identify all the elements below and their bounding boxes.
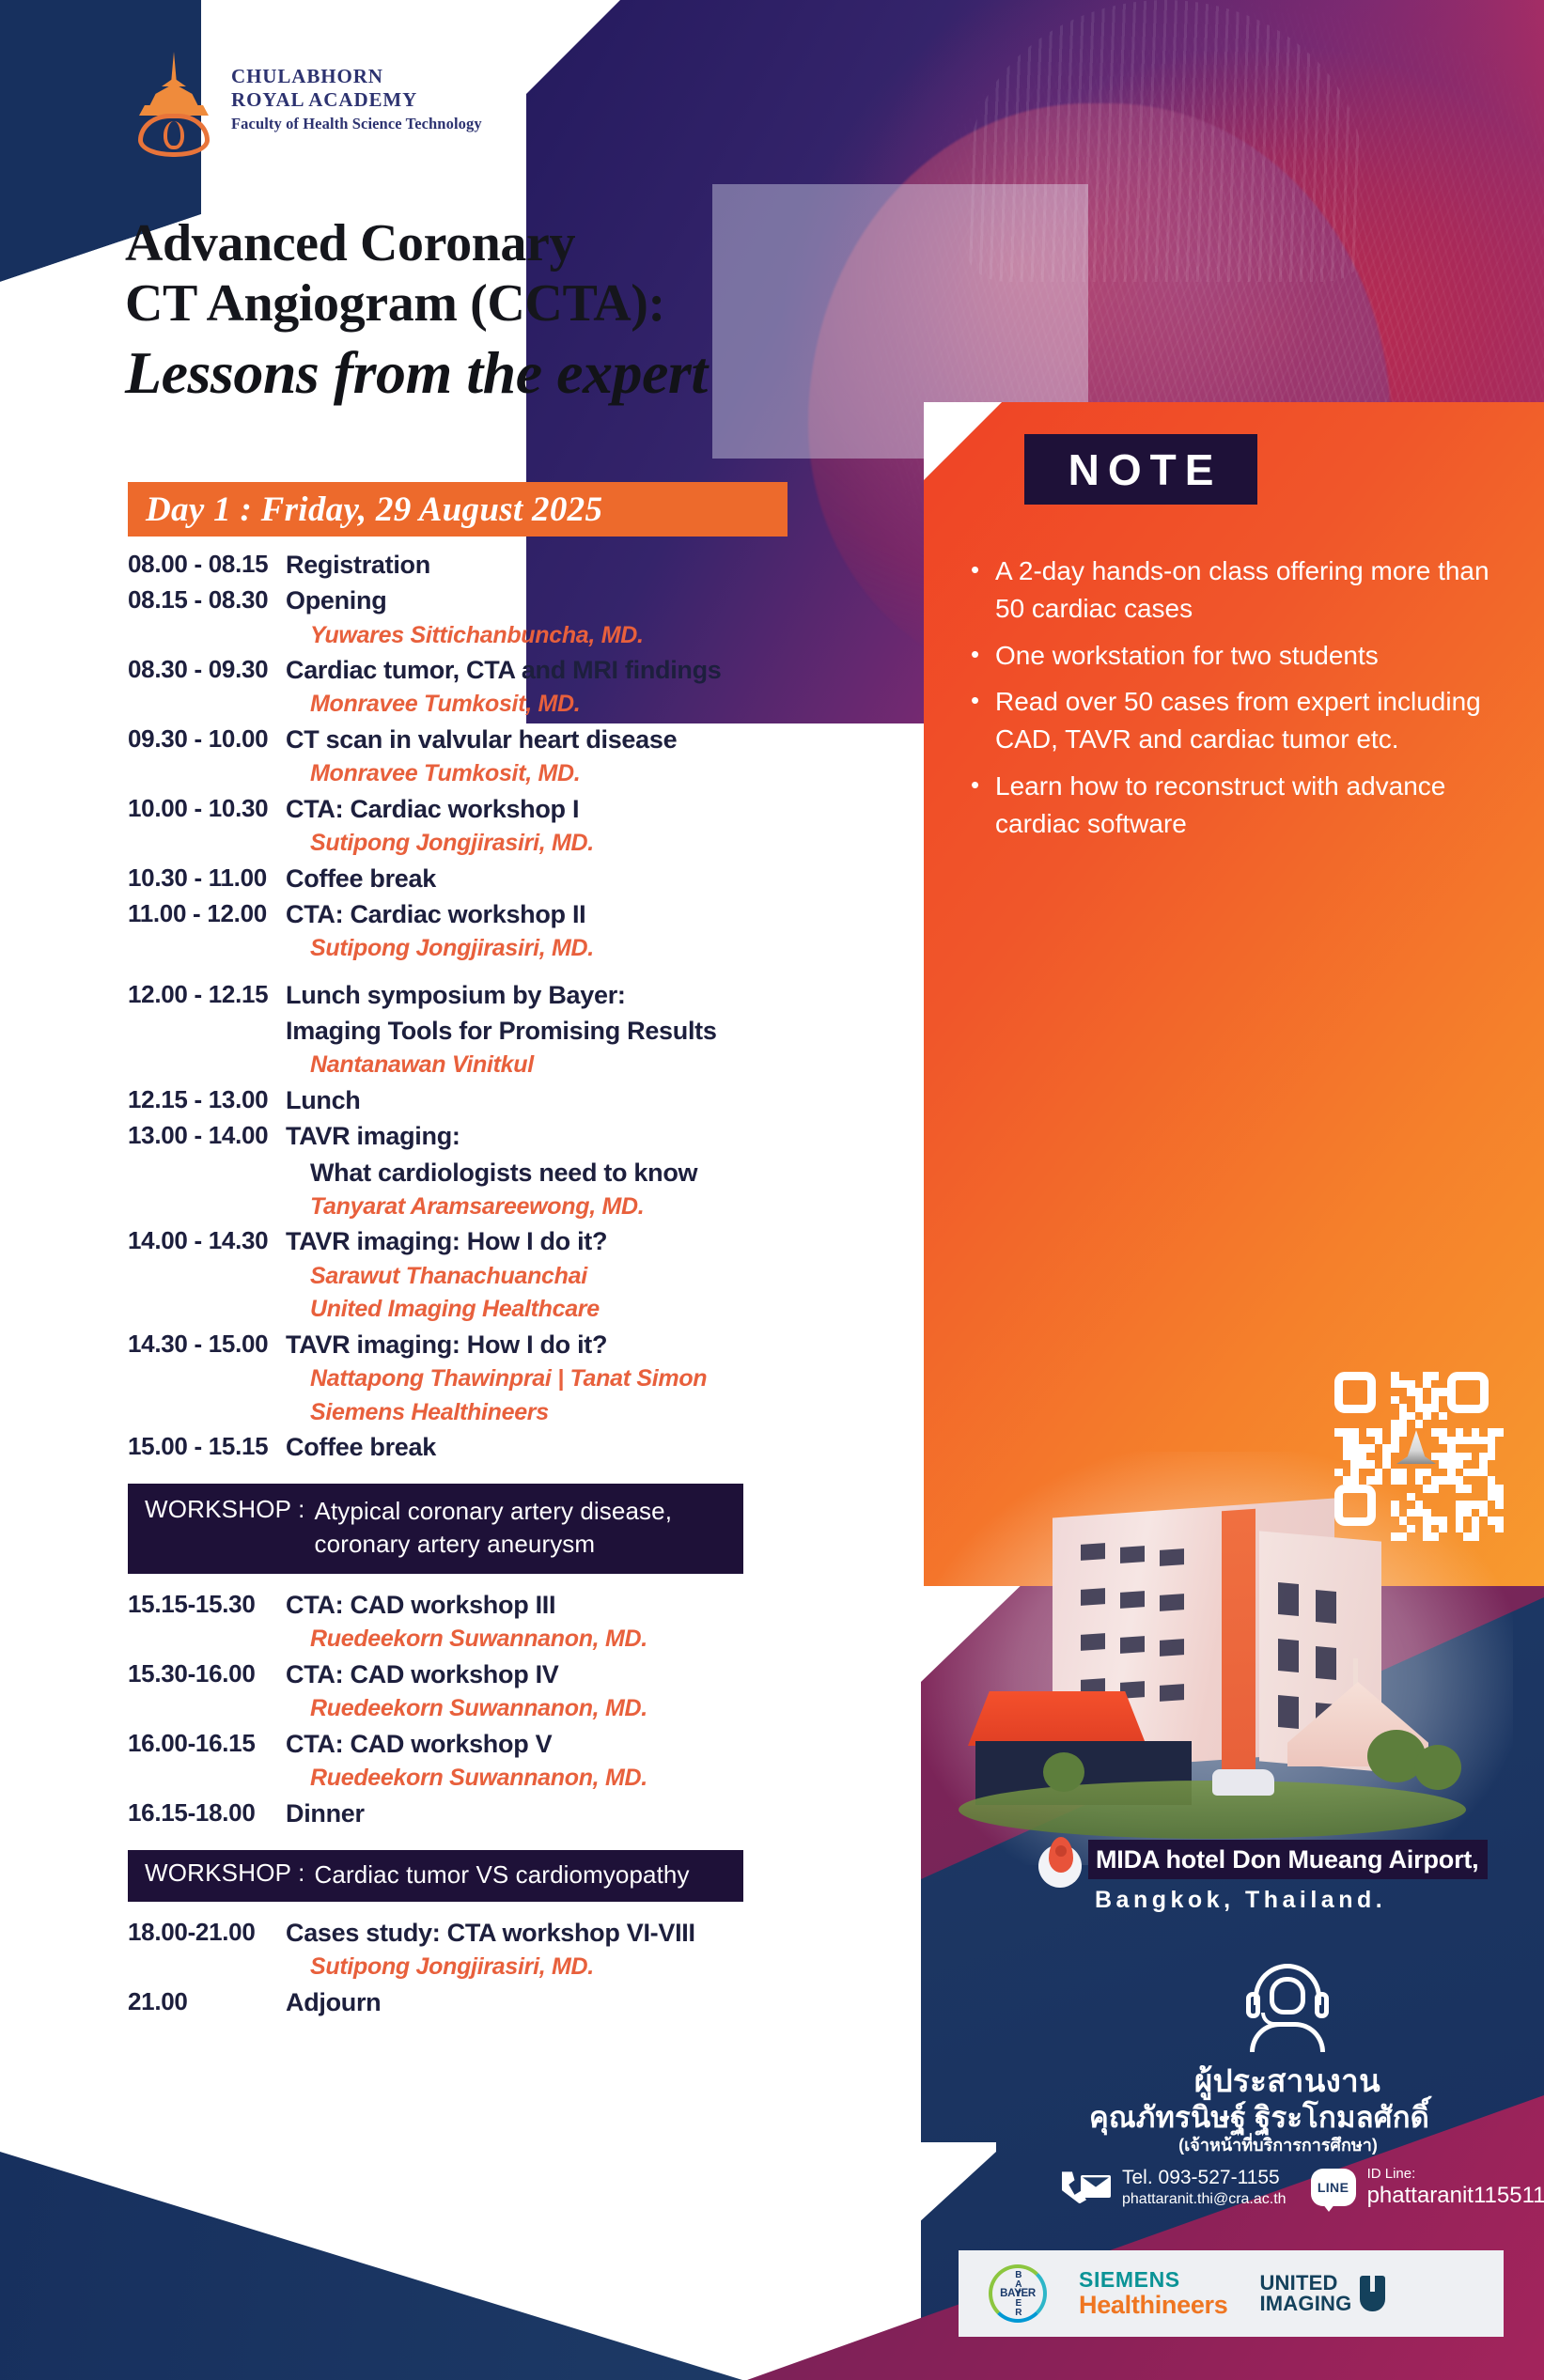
schedule-time: 14.00 - 14.30	[128, 1223, 286, 1258]
schedule-row: 15.30-16.00CTA: CAD workshop IVRuedeekor…	[128, 1657, 917, 1726]
logo-text: CHULABHORN ROYAL ACADEMY Faculty of Heal…	[231, 52, 482, 133]
schedule-topic: Coffee break	[286, 1429, 917, 1465]
bullet-icon: •	[971, 768, 995, 844]
schedule-speaker: Sarawut Thanachuanchai	[286, 1260, 917, 1294]
qr-module	[1391, 1420, 1399, 1428]
schedule-topic: Opening	[286, 583, 917, 618]
schedule-speaker: Tanyarat Aramsareewong, MD.	[286, 1190, 917, 1224]
united-imaging-logo: UNITED IMAGING	[1259, 2273, 1385, 2315]
qr-module	[1407, 1388, 1415, 1396]
line-app-icon: LINE	[1311, 2169, 1356, 2206]
imaging-wordmark: IMAGING	[1259, 2294, 1351, 2314]
schedule-body: Cases study: CTA workshop VI-VIIISutipon…	[286, 1915, 917, 1984]
bullet-icon: •	[971, 683, 995, 759]
qr-module	[1399, 1404, 1408, 1412]
qr-module	[1431, 1428, 1440, 1437]
schedule-body: TAVR imaging: How I do it?Sarawut Thanac…	[286, 1223, 917, 1326]
qr-module	[1415, 1396, 1424, 1405]
page-title: Advanced Coronary CT Angiogram (CCTA): L…	[125, 214, 1084, 408]
qr-module	[1423, 1372, 1431, 1380]
qr-module	[1334, 1428, 1343, 1437]
qr-module	[1423, 1380, 1431, 1389]
healthineers-wordmark: Healthineers	[1079, 2292, 1227, 2318]
schedule-time: 10.30 - 11.00	[128, 861, 286, 895]
schedule-body: TAVR imaging:What cardiologists need to …	[286, 1118, 917, 1223]
qr-module	[1407, 1380, 1415, 1389]
note-bullet-list: •A 2-day hands-on class offering more th…	[971, 552, 1525, 851]
schedule-row: 16.15-18.00Dinner	[128, 1796, 917, 1831]
schedule-body: CTA: Cardiac workshop IISutipong Jongjir…	[286, 896, 917, 966]
qr-module	[1431, 1404, 1440, 1412]
schedule-time: 12.15 - 13.00	[128, 1082, 286, 1117]
schedule-row: 14.30 - 15.00TAVR imaging: How I do it?N…	[128, 1327, 917, 1429]
qr-finder-pattern	[1447, 1372, 1489, 1413]
schedule-topic: CT scan in valvular heart disease	[286, 722, 917, 757]
schedule-topic: TAVR imaging: How I do it?	[286, 1223, 917, 1259]
schedule-row: 08.00 - 08.15Registration	[128, 547, 917, 583]
qr-module	[1423, 1412, 1431, 1421]
schedule-topic: CTA: CAD workshop IV	[286, 1657, 917, 1692]
schedule-time: 13.00 - 14.00	[128, 1118, 286, 1153]
schedule-speaker: Ruedeekorn Suwannanon, MD.	[286, 1692, 917, 1726]
note-item-text: Learn how to reconstruct with advance ca…	[995, 768, 1525, 844]
day-banner-text: Day 1 : Friday, 29 August 2025	[146, 490, 602, 530]
schedule-speaker: Ruedeekorn Suwannanon, MD.	[286, 1623, 917, 1657]
schedule-body: CTA: CAD workshop IIIRuedeekorn Suwannan…	[286, 1587, 917, 1657]
schedule-topic: Adjourn	[286, 1984, 917, 2020]
schedule-topic: CTA: CAD workshop III	[286, 1587, 917, 1623]
workshop-1-line-1: Atypical coronary artery disease,	[315, 1497, 672, 1525]
qr-module	[1439, 1412, 1447, 1421]
schedule-topic: TAVR imaging: How I do it?	[286, 1327, 917, 1362]
schedule-body: TAVR imaging: How I do it?Nattapong Thaw…	[286, 1327, 917, 1429]
qr-module	[1375, 1428, 1383, 1437]
schedule-time: 08.00 - 08.15	[128, 547, 286, 582]
qr-module	[1415, 1388, 1424, 1396]
schedule-row: 12.15 - 13.00Lunch	[128, 1082, 917, 1118]
schedule-row: 14.00 - 14.30TAVR imaging: How I do it?S…	[128, 1223, 917, 1326]
qr-module	[1375, 1437, 1383, 1445]
siemens-healthineers-logo: SIEMENS Healthineers	[1079, 2269, 1227, 2318]
conference-poster: CHULABHORN ROYAL ACADEMY Faculty of Heal…	[0, 0, 1544, 2380]
note-item: •A 2-day hands-on class offering more th…	[971, 552, 1525, 629]
schedule-body: Lunch symposium by Bayer:Imaging Tools f…	[286, 977, 917, 1082]
schedule-time: 21.00	[128, 1984, 286, 2019]
schedule-row: 10.00 - 10.30CTA: Cardiac workshop ISuti…	[128, 791, 917, 861]
schedule-row: 13.00 - 14.00TAVR imaging:What cardiolog…	[128, 1118, 917, 1223]
chulabhorn-crown-heart-icon	[130, 52, 218, 157]
schedule-speaker: Yuwares Sittichanbuncha, MD.	[286, 619, 917, 653]
schedule-row: 08.15 - 08.30OpeningYuwares Sittichanbun…	[128, 583, 917, 652]
schedule-list: 08.00 - 08.15Registration08.15 - 08.30Op…	[128, 547, 917, 2020]
schedule-section-afternoon: 15.15-15.30CTA: CAD workshop IIIRuedeeko…	[128, 1587, 917, 1831]
schedule-body: CTA: Cardiac workshop ISutipong Jongjira…	[286, 791, 917, 861]
workshop-2-title: Cardiac tumor VS cardiomyopathy	[305, 1859, 690, 1891]
note-item: •Learn how to reconstruct with advance c…	[971, 768, 1525, 844]
workshop-banner-1: WORKSHOP : Atypical coronary artery dise…	[128, 1484, 743, 1574]
schedule-speaker: Siemens Healthineers	[286, 1396, 917, 1430]
schedule-time: 12.00 - 12.15	[128, 977, 286, 1012]
org-faculty: Faculty of Health Science Technology	[231, 115, 482, 133]
note-item: •Read over 50 cases from expert includin…	[971, 683, 1525, 759]
qr-module	[1439, 1428, 1447, 1437]
qr-module	[1439, 1388, 1447, 1396]
schedule-row: 08.30 - 09.30Cardiac tumor, CTA and MRI …	[128, 652, 917, 722]
united-imaging-mark-icon	[1360, 2276, 1385, 2311]
schedule-topic-cont: Imaging Tools for Promising Results	[286, 1013, 917, 1049]
qr-finder-pattern	[1334, 1372, 1376, 1413]
schedule-speaker: Nantanawan Vinitkul	[286, 1049, 917, 1082]
qr-module	[1343, 1428, 1351, 1437]
location-name: MIDA hotel Don Mueang Airport,	[1088, 1840, 1488, 1879]
schedule-row: 15.15-15.30CTA: CAD workshop IIIRuedeeko…	[128, 1587, 917, 1657]
schedule-body: CT scan in valvular heart diseaseMonrave…	[286, 722, 917, 791]
schedule-topic: Registration	[286, 547, 917, 583]
schedule-time: 16.00-16.15	[128, 1726, 286, 1761]
schedule-topic: CTA: CAD workshop V	[286, 1726, 917, 1762]
schedule-speaker: Sutipong Jongjirasiri, MD.	[286, 1951, 917, 1984]
schedule-time: 15.00 - 15.15	[128, 1429, 286, 1464]
qr-module	[1391, 1372, 1399, 1380]
schedule-body: Registration	[286, 547, 917, 583]
qr-module	[1350, 1428, 1359, 1437]
contact-email[interactable]: phattaranit.thi@cra.ac.th	[1122, 2189, 1287, 2210]
siemens-wordmark: SIEMENS	[1079, 2269, 1227, 2292]
note-item: •One workstation for two students	[971, 637, 1525, 675]
schedule-topic: TAVR imaging:	[286, 1118, 917, 1154]
schedule-time: 09.30 - 10.00	[128, 722, 286, 756]
line-id-label: ID Line:	[1367, 2166, 1544, 2183]
qr-module	[1431, 1372, 1440, 1380]
headset-operator-icon	[1242, 1964, 1333, 2050]
qr-module	[1456, 1428, 1464, 1437]
contact-row: Tel. 093-527-1155 phattaranit.thi@cra.ac…	[1062, 2166, 1544, 2210]
schedule-row: 15.00 - 15.15Coffee break	[128, 1429, 917, 1465]
schedule-speaker: Monravee Tumkosit, MD.	[286, 688, 917, 722]
sponsor-logo-bar: BAYER BAYER SIEMENS Healthineers UNITED …	[959, 2250, 1504, 2337]
schedule-topic: Lunch	[286, 1082, 917, 1118]
qr-module	[1472, 1428, 1480, 1437]
note-heading-text: NOTE	[1060, 444, 1223, 495]
schedule-speaker: Sutipong Jongjirasiri, MD.	[286, 827, 917, 861]
qr-module	[1488, 1428, 1496, 1437]
schedule-topic: Cases study: CTA workshop VI-VIII	[286, 1915, 917, 1951]
schedule-time: 15.30-16.00	[128, 1657, 286, 1691]
qr-module	[1366, 1428, 1375, 1437]
qr-module	[1407, 1412, 1415, 1421]
schedule-row: 18.00-21.00Cases study: CTA workshop VI-…	[128, 1915, 917, 1984]
qr-module	[1431, 1396, 1440, 1405]
schedule-row: 10.30 - 11.00Coffee break	[128, 861, 917, 896]
qr-module	[1399, 1412, 1408, 1421]
bullet-icon: •	[971, 637, 995, 675]
qr-module	[1472, 1437, 1480, 1445]
schedule-time: 08.15 - 08.30	[128, 583, 286, 617]
qr-module	[1488, 1437, 1496, 1445]
qr-module	[1391, 1396, 1399, 1405]
line-id-value[interactable]: phattaranit115511	[1367, 2183, 1544, 2210]
qr-module	[1456, 1437, 1464, 1445]
schedule-row: 16.00-16.15CTA: CAD workshop VRuedeekorn…	[128, 1726, 917, 1796]
note-heading-tag: NOTE	[1024, 434, 1257, 505]
schedule-topic-cont: What cardiologists need to know	[286, 1155, 917, 1190]
schedule-section-morning: 08.00 - 08.15Registration08.15 - 08.30Op…	[128, 547, 917, 1465]
schedule-time: 15.15-15.30	[128, 1587, 286, 1622]
title-line-1: Advanced Coronary	[125, 214, 1084, 274]
schedule-speaker: Ruedeekorn Suwannanon, MD.	[286, 1762, 917, 1796]
workshop-1-title: Atypical coronary artery disease, corona…	[305, 1495, 672, 1561]
title-line-3: Lessons from the expert	[125, 338, 1084, 408]
workshop-1-line-2: coronary artery aneurysm	[315, 1530, 596, 1558]
schedule-body: Dinner	[286, 1796, 917, 1831]
phone-envelope-icon	[1062, 2168, 1111, 2207]
schedule-body: Lunch	[286, 1082, 917, 1118]
note-item-text: One workstation for two students	[995, 637, 1525, 675]
qr-module	[1391, 1380, 1399, 1389]
workshop-banner-2: WORKSHOP : Cardiac tumor VS cardiomyopat…	[128, 1850, 743, 1902]
qr-module	[1495, 1428, 1504, 1437]
schedule-time: 11.00 - 12.00	[128, 896, 286, 931]
qr-module	[1399, 1380, 1408, 1389]
schedule-body: CTA: CAD workshop VRuedeekorn Suwannanon…	[286, 1726, 917, 1796]
qr-module	[1350, 1437, 1359, 1445]
schedule-speaker: Sutipong Jongjirasiri, MD.	[286, 932, 917, 966]
schedule-row: 21.00Adjourn	[128, 1984, 917, 2020]
workshop-1-label: WORKSHOP :	[145, 1495, 305, 1524]
schedule-time: 18.00-21.00	[128, 1915, 286, 1950]
qr-module	[1439, 1437, 1447, 1445]
schedule-topic: Lunch symposium by Bayer:	[286, 977, 917, 1013]
org-line-2: ROYAL ACADEMY	[231, 88, 482, 112]
title-line-2: CT Angiogram (CCTA):	[125, 274, 1084, 334]
note-item-text: A 2-day hands-on class offering more tha…	[995, 552, 1525, 629]
schedule-body: Coffee break	[286, 1429, 917, 1465]
line-badge-text: LINE	[1318, 2180, 1349, 2195]
bayer-logo: BAYER BAYER	[989, 2264, 1047, 2323]
qr-module	[1399, 1428, 1408, 1437]
schedule-body: Adjourn	[286, 1984, 917, 2020]
schedule-topic: Cardiac tumor, CTA and MRI findings	[286, 652, 917, 688]
schedule-topic: CTA: Cardiac workshop II	[286, 896, 917, 932]
schedule-row: 11.00 - 12.00CTA: Cardiac workshop IISut…	[128, 896, 917, 966]
schedule-speaker: Nattapong Thawinprai | Tanat Simon	[286, 1362, 917, 1396]
schedule-speaker: United Imaging Healthcare	[286, 1293, 917, 1327]
schedule-time: 08.30 - 09.30	[128, 652, 286, 687]
schedule-body: CTA: CAD workshop IVRuedeekorn Suwannano…	[286, 1657, 917, 1726]
qr-module	[1391, 1428, 1399, 1437]
schedule-topic: CTA: Cardiac workshop I	[286, 791, 917, 827]
qr-module	[1415, 1420, 1424, 1428]
qr-module	[1391, 1437, 1399, 1445]
hotel-photo	[940, 1470, 1494, 1846]
note-item-text: Read over 50 cases from expert including…	[995, 683, 1525, 759]
schedule-topic: Dinner	[286, 1796, 917, 1831]
qr-module	[1415, 1404, 1424, 1412]
schedule-row: 09.30 - 10.00CT scan in valvular heart d…	[128, 722, 917, 791]
spacer	[128, 966, 917, 977]
bullet-icon: •	[971, 552, 995, 629]
schedule-topic: Coffee break	[286, 861, 917, 896]
location-pin-icon	[1038, 1837, 1082, 1890]
qr-module	[1479, 1437, 1488, 1445]
qr-module	[1423, 1404, 1431, 1412]
schedule-body: Coffee break	[286, 861, 917, 896]
schedule-row: 12.00 - 12.15Lunch symposium by Bayer:Im…	[128, 977, 917, 1082]
chulabhorn-logo-block: CHULABHORN ROYAL ACADEMY Faculty of Heal…	[130, 52, 482, 157]
qr-module	[1447, 1437, 1456, 1445]
bayer-logo-vertical: BAYER	[1014, 2270, 1022, 2317]
schedule-section-evening: 18.00-21.00Cases study: CTA workshop VI-…	[128, 1915, 917, 2020]
contact-telephone[interactable]: Tel. 093-527-1155	[1122, 2166, 1287, 2189]
schedule-time: 14.30 - 15.00	[128, 1327, 286, 1361]
qr-module	[1463, 1437, 1472, 1445]
coordinator-role: (เจ้าหน้าที่บริการการศึกษา)	[1071, 2131, 1485, 2158]
qr-module	[1343, 1437, 1351, 1445]
schedule-body: OpeningYuwares Sittichanbuncha, MD.	[286, 583, 917, 652]
location-city: Bangkok, Thailand.	[1095, 1887, 1386, 1914]
qr-module	[1399, 1420, 1408, 1428]
schedule-body: Cardiac tumor, CTA and MRI findingsMonra…	[286, 652, 917, 722]
qr-module	[1431, 1388, 1440, 1396]
day-banner: Day 1 : Friday, 29 August 2025	[128, 482, 788, 537]
schedule-speaker: Monravee Tumkosit, MD.	[286, 757, 917, 791]
schedule-time: 16.15-18.00	[128, 1796, 286, 1830]
org-line-1: CHULABHORN	[231, 65, 482, 88]
workshop-2-label: WORKSHOP :	[145, 1859, 305, 1888]
schedule-time: 10.00 - 10.30	[128, 791, 286, 826]
united-wordmark: UNITED	[1259, 2273, 1351, 2294]
